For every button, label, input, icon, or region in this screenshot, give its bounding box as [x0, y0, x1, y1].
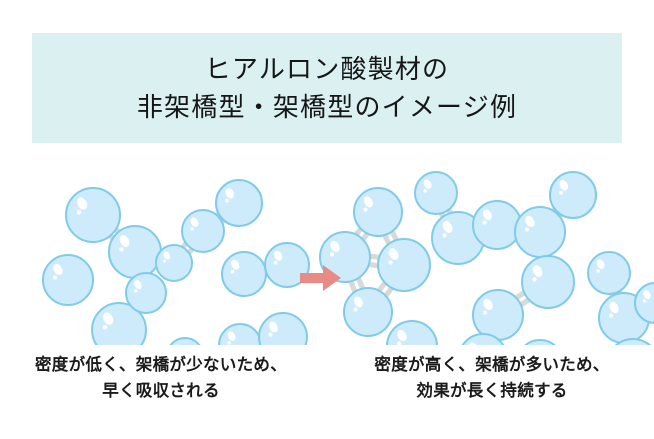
molecule-sphere: [517, 340, 563, 345]
sphere-layer: [43, 172, 654, 345]
molecule-sphere: [588, 252, 630, 294]
molecule-sphere: [415, 172, 457, 214]
molecule-sphere: [344, 288, 392, 336]
molecule-sphere: [219, 324, 261, 345]
caption-left-line-1: 密度が低く、架橋が少ないため、: [6, 352, 316, 378]
caption-right: 密度が高く、架橋が多いため、 効果が長く持続する: [336, 352, 648, 404]
caption-left-line-2: 早く吸収される: [6, 378, 316, 404]
molecule-sphere: [259, 313, 307, 345]
molecule-sphere: [522, 256, 574, 308]
molecule-sphere: [109, 226, 161, 278]
molecule-sphere: [182, 210, 224, 252]
molecule-sphere: [156, 245, 192, 281]
molecule-sphere: [216, 180, 262, 226]
molecule-sphere: [66, 188, 120, 242]
molecule-sphere: [167, 338, 203, 345]
molecule-sphere: [43, 255, 93, 305]
title-line-2: 非架橋型・架橋型のイメージ例: [137, 88, 517, 126]
title-banner: ヒアルロン酸製材の 非架橋型・架橋型のイメージ例: [32, 33, 622, 143]
molecule-sphere: [387, 321, 437, 345]
molecule-sphere: [354, 188, 402, 236]
molecule-sphere: [126, 273, 166, 313]
molecule-illustration: [0, 160, 654, 345]
diagram-canvas: ヒアルロン酸製材の 非架橋型・架橋型のイメージ例 密度が低く、架橋が少ないため、…: [0, 0, 654, 439]
molecule-sphere: [222, 252, 266, 296]
molecule-sphere: [473, 201, 521, 249]
molecule-sphere: [515, 207, 565, 257]
caption-left: 密度が低く、架橋が少ないため、 早く吸収される: [6, 352, 316, 404]
caption-right-line-2: 効果が長く持続する: [336, 378, 648, 404]
molecule-sphere: [473, 290, 523, 340]
caption-right-line-1: 密度が高く、架橋が多いため、: [336, 352, 648, 378]
title-line-1: ヒアルロン酸製材の: [205, 50, 450, 88]
molecule-sphere: [550, 172, 596, 218]
molecule-sphere: [378, 239, 430, 291]
